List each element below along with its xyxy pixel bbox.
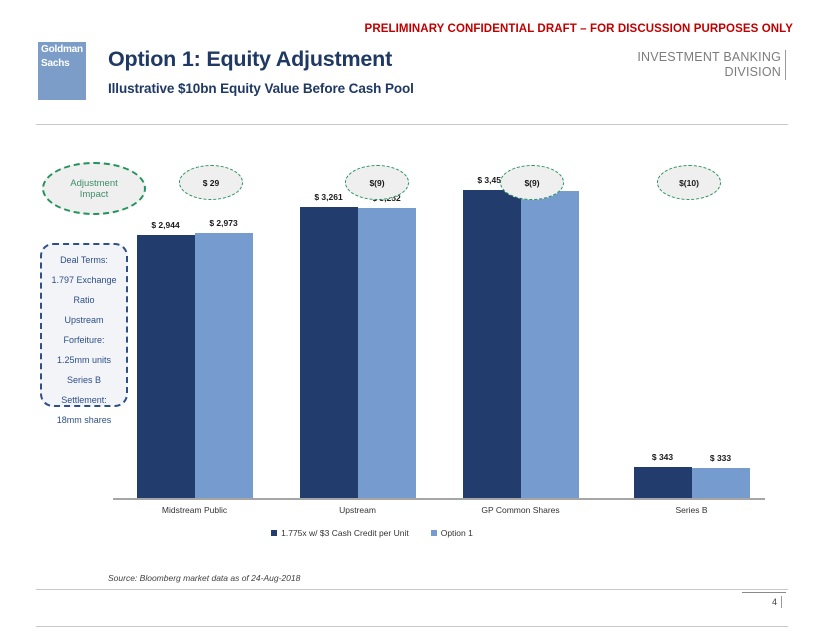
bar-midstream-public-series-1 (137, 235, 195, 498)
legend-label: Option 1 (441, 528, 473, 538)
bar-value-label: $ 2,973 (195, 218, 253, 228)
page-number: 4 (772, 596, 782, 608)
source-note: Source: Bloomberg market data as of 24-A… (108, 573, 300, 583)
page-number-rule (742, 592, 786, 593)
bar-chart: $ 2,944$ 2,973Midstream Public$ 29$ 3,26… (0, 0, 822, 635)
bar-value-label: $ 2,944 (137, 220, 195, 230)
adjustment-impact-value-1: $ 29 (179, 165, 243, 200)
legend-swatch-icon (431, 530, 437, 536)
bar-gp-common-shares-series-2 (521, 191, 579, 498)
legend-label: 1.775x w/ $3 Cash Credit per Unit (281, 528, 409, 538)
chart-legend: 1.775x w/ $3 Cash Credit per UnitOption … (0, 528, 744, 538)
category-label-series-b: Series B (594, 505, 790, 515)
adjustment-impact-value-3: $(9) (500, 165, 564, 200)
adjustment-impact-value-4: $(10) (657, 165, 721, 200)
bar-value-label: $ 3,261 (300, 192, 358, 202)
adjustment-impact-value-2: $(9) (345, 165, 409, 200)
chart-baseline-axis (113, 498, 765, 500)
category-label-gp-common-shares: GP Common Shares (423, 505, 619, 515)
bar-value-label: $ 343 (634, 452, 692, 462)
bar-upstream-series-1 (300, 207, 358, 498)
bottom-divider (36, 626, 788, 627)
bar-midstream-public-series-2 (195, 233, 253, 498)
slide: PRELIMINARY CONFIDENTIAL DRAFT – FOR DIS… (0, 0, 822, 635)
legend-item-2[interactable]: Option 1 (431, 528, 473, 538)
bar-gp-common-shares-series-1 (463, 190, 521, 498)
legend-item-1[interactable]: 1.775x w/ $3 Cash Credit per Unit (271, 528, 409, 538)
bar-series-b-series-2 (692, 468, 750, 498)
bar-series-b-series-1 (634, 467, 692, 498)
footer-divider (36, 589, 788, 590)
bar-upstream-series-2 (358, 208, 416, 498)
bar-value-label: $ 333 (692, 453, 750, 463)
legend-swatch-icon (271, 530, 277, 536)
